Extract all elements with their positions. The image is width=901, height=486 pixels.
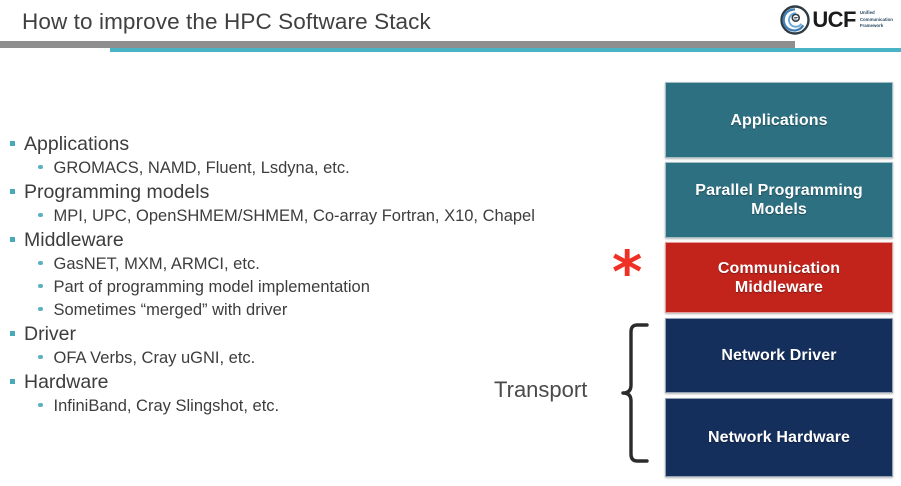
list-item-label: Middleware — [24, 228, 124, 253]
bullet-dot-icon — [38, 261, 43, 266]
list-item-label: Applications — [24, 132, 129, 157]
list-item-label: Part of programming model implementation — [54, 276, 370, 299]
stack-layer-label: Parallel Programming Models — [674, 181, 884, 219]
list-item: Middleware — [10, 228, 620, 253]
list-item-label: GasNET, MXM, ARMCI, etc. — [54, 253, 260, 276]
stack-layer-label: Network Driver — [721, 346, 836, 365]
bullet-square-icon — [10, 141, 15, 146]
bullet-square-icon — [10, 331, 15, 336]
ucf-tagline: Unified Communication Framework — [860, 10, 893, 30]
stack-layer-network-hardware: Network Hardware — [665, 398, 893, 477]
bullet-dot-icon — [38, 403, 43, 408]
list-item: OFA Verbs, Cray uGNI, etc. — [38, 347, 620, 370]
ucf-wordmark: UCF — [812, 9, 855, 31]
bullet-square-icon — [10, 189, 15, 194]
stack-layer-parallel-programming-models: Parallel Programming Models — [665, 162, 893, 238]
ucf-tagline-line2: Communication — [860, 17, 893, 24]
ucf-swirl-icon — [780, 5, 810, 35]
bullet-square-icon — [10, 237, 15, 242]
bullet-dot-icon — [38, 213, 43, 218]
stack-layer-label: Applications — [730, 111, 827, 130]
transport-label: Transport — [494, 377, 587, 403]
page-title: How to improve the HPC Software Stack — [22, 9, 431, 35]
red-asterisk-highlight-icon: * — [612, 243, 642, 301]
list-item: GasNET, MXM, ARMCI, etc. — [38, 253, 620, 276]
bullet-list: Applications GROMACS, NAMD, Fluent, Lsdy… — [10, 132, 620, 418]
list-item-label: Programming models — [24, 180, 209, 205]
list-item: GROMACS, NAMD, Fluent, Lsdyna, etc. — [38, 157, 620, 180]
list-item-label: InfiniBand, Cray Slingshot, etc. — [54, 395, 280, 418]
ucf-tagline-line3: Framework — [860, 23, 893, 30]
bullet-dot-icon — [38, 355, 43, 360]
stack-layer-applications: Applications — [665, 82, 893, 158]
ucf-tagline-line1: Unified — [860, 10, 893, 17]
bullet-dot-icon — [38, 165, 43, 170]
software-stack-diagram: Applications Parallel Programming Models… — [665, 82, 893, 477]
stack-layer-network-driver: Network Driver — [665, 318, 893, 393]
header-divider-gray — [0, 41, 795, 48]
list-item-label: OFA Verbs, Cray uGNI, etc. — [54, 347, 256, 370]
list-item-label: Driver — [24, 322, 76, 347]
list-item: MPI, UPC, OpenSHMEM/SHMEM, Co-array Fort… — [38, 205, 620, 228]
bullet-dot-icon — [38, 307, 43, 312]
list-item: Part of programming model implementation — [38, 276, 620, 299]
bullet-dot-icon — [38, 284, 43, 289]
stack-layer-communication-middleware: Communication Middleware — [665, 242, 893, 313]
ucf-logo: UCF Unified Communication Framework — [780, 4, 893, 36]
list-item-label: GROMACS, NAMD, Fluent, Lsdyna, etc. — [54, 157, 350, 180]
list-item: Driver — [10, 322, 620, 347]
header-divider-teal — [110, 48, 901, 52]
bullet-square-icon — [10, 379, 15, 384]
transport-brace-icon — [620, 322, 650, 464]
stack-layer-label: Network Hardware — [708, 428, 850, 447]
list-item: Applications — [10, 132, 620, 157]
list-item-label: Hardware — [24, 370, 109, 395]
stack-layer-label: Communication Middleware — [674, 259, 884, 297]
list-item: Sometimes “merged” with driver — [38, 299, 620, 322]
list-item: Programming models — [10, 180, 620, 205]
list-item-label: Sometimes “merged” with driver — [54, 299, 288, 322]
list-item-label: MPI, UPC, OpenSHMEM/SHMEM, Co-array Fort… — [54, 205, 535, 228]
